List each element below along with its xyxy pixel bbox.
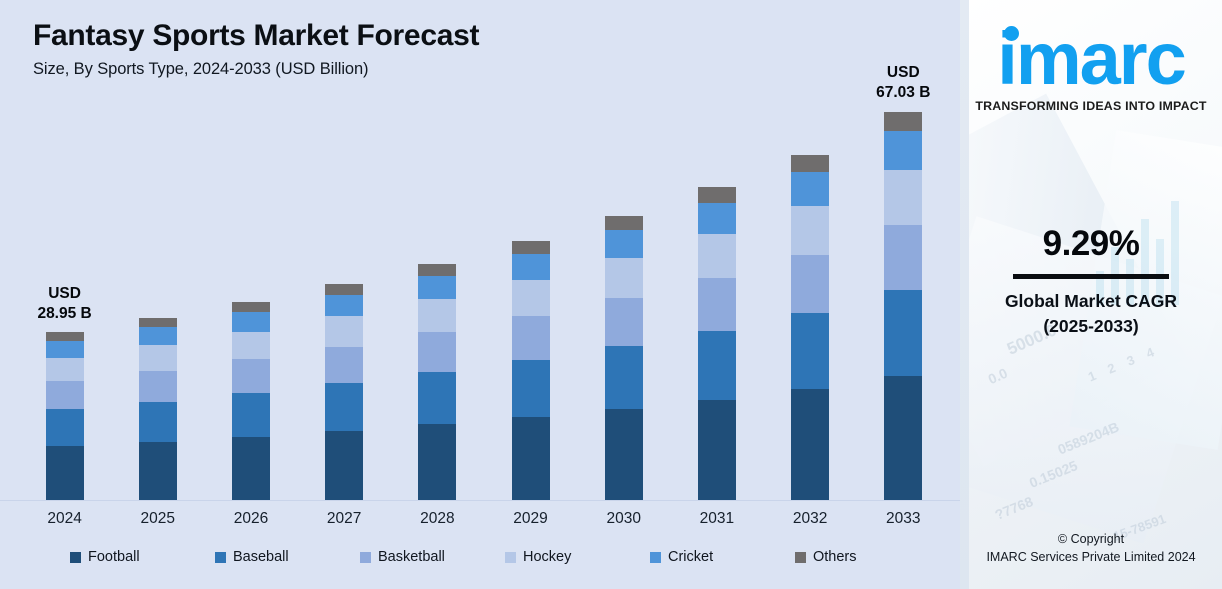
chart-subtitle: Size, By Sports Type, 2024-2033 (USD Bil… [33, 60, 479, 79]
bar-column-2029[interactable] [484, 100, 577, 500]
bar-segment-football[interactable] [418, 424, 456, 500]
stacked-bar[interactable] [232, 302, 270, 500]
legend-swatch-icon [360, 552, 371, 563]
bar-segment-football[interactable] [232, 437, 270, 500]
brand-panel: 5000.0 0.0 1 2 3 4 0589204B 0.15025 ?776… [960, 0, 1222, 589]
bar-column-2030[interactable] [577, 100, 670, 500]
stacked-bar[interactable] [139, 318, 177, 500]
cagr-block: 9.29% Global Market CAGR (2025-2033) [960, 226, 1222, 338]
page-title: Fantasy Sports Market Forecast [33, 19, 479, 53]
bar-segment-baseball[interactable] [418, 372, 456, 424]
x-axis-tick-2030: 2030 [577, 510, 670, 528]
bar-segment-hockey[interactable] [605, 258, 643, 298]
logo-mark: imarc [997, 20, 1184, 98]
bar-segment-football[interactable] [325, 431, 363, 500]
copyright-line2: IMARC Services Private Limited 2024 [960, 548, 1222, 566]
bar-column-2033[interactable]: USD67.03 B [857, 100, 950, 500]
bar-segment-hockey[interactable] [791, 206, 829, 254]
bar-segment-others[interactable] [325, 284, 363, 295]
bar-segment-hockey[interactable] [512, 280, 550, 316]
stacked-bar[interactable] [512, 241, 550, 500]
stacked-bar[interactable] [791, 155, 829, 500]
legend-item-others[interactable]: Others [795, 549, 940, 565]
x-axis-tick-2024: 2024 [18, 510, 111, 528]
chart-header: Fantasy Sports Market Forecast Size, By … [33, 19, 479, 79]
bar-segment-basketball[interactable] [418, 332, 456, 372]
cagr-caption-line1: Global Market CAGR [960, 289, 1222, 314]
bar-segment-hockey[interactable] [698, 234, 736, 278]
bar-segment-basketball[interactable] [605, 298, 643, 346]
bar-segment-football[interactable] [46, 446, 84, 500]
legend-label: Hockey [523, 549, 571, 565]
logo-tagline: TRANSFORMING IDEAS INTO IMPACT [960, 99, 1222, 113]
bar-segment-hockey[interactable] [884, 170, 922, 224]
value-annotation-2024: USD28.95 B [37, 284, 91, 324]
bar-segment-basketball[interactable] [791, 255, 829, 314]
bar-segment-basketball[interactable] [46, 381, 84, 409]
legend-swatch-icon [215, 552, 226, 563]
bar-group: USD28.95 BUSD67.03 B [18, 100, 950, 500]
stacked-bar[interactable] [698, 187, 736, 500]
bar-segment-others[interactable] [512, 241, 550, 254]
bar-segment-hockey[interactable] [232, 332, 270, 360]
bar-segment-football[interactable] [139, 442, 177, 500]
bar-segment-baseball[interactable] [325, 383, 363, 431]
bar-segment-basketball[interactable] [884, 225, 922, 291]
bar-column-2027[interactable] [298, 100, 391, 500]
bar-segment-cricket[interactable] [46, 341, 84, 358]
bar-segment-others[interactable] [791, 155, 829, 172]
legend-item-baseball[interactable]: Baseball [215, 549, 360, 565]
bar-column-2025[interactable] [111, 100, 204, 500]
legend-swatch-icon [650, 552, 661, 563]
x-axis-tick-2026: 2026 [204, 510, 297, 528]
bar-segment-others[interactable] [232, 302, 270, 312]
x-axis-tick-2031: 2031 [670, 510, 763, 528]
bar-segment-cricket[interactable] [605, 230, 643, 258]
cagr-rule [1013, 274, 1169, 279]
x-axis-tick-2029: 2029 [484, 510, 577, 528]
bar-segment-cricket[interactable] [884, 131, 922, 170]
stacked-bar[interactable] [884, 112, 922, 500]
bar-segment-hockey[interactable] [46, 358, 84, 381]
bar-segment-hockey[interactable] [139, 345, 177, 370]
bar-segment-baseball[interactable] [884, 290, 922, 375]
x-axis: 2024202520262027202820292030203120322033 [18, 505, 950, 533]
bar-segment-cricket[interactable] [325, 295, 363, 317]
stacked-bar[interactable] [418, 264, 456, 500]
plot-area: USD28.95 BUSD67.03 B [0, 100, 960, 500]
bar-segment-cricket[interactable] [139, 327, 177, 345]
bar-segment-football[interactable] [512, 417, 550, 500]
bar-column-2032[interactable] [764, 100, 857, 500]
bar-segment-hockey[interactable] [418, 299, 456, 332]
x-axis-tick-2027: 2027 [298, 510, 391, 528]
legend-swatch-icon [70, 552, 81, 563]
annotation-currency: USD [876, 63, 930, 83]
bar-segment-cricket[interactable] [512, 254, 550, 280]
bar-segment-others[interactable] [418, 264, 456, 276]
bar-column-2024[interactable]: USD28.95 B [18, 100, 111, 500]
bar-segment-baseball[interactable] [139, 402, 177, 442]
stacked-bar[interactable] [325, 284, 363, 500]
bar-segment-football[interactable] [698, 400, 736, 500]
infographic-root: Fantasy Sports Market Forecast Size, By … [0, 0, 1222, 589]
bar-segment-others[interactable] [139, 318, 177, 327]
bar-segment-cricket[interactable] [232, 312, 270, 332]
bar-segment-basketball[interactable] [512, 316, 550, 360]
copyright: © Copyright IMARC Services Private Limit… [960, 530, 1222, 566]
bar-segment-basketball[interactable] [325, 347, 363, 384]
copyright-line1: © Copyright [960, 530, 1222, 548]
cagr-caption-line2: (2025-2033) [960, 314, 1222, 339]
bar-segment-cricket[interactable] [698, 203, 736, 234]
x-axis-tick-2033: 2033 [857, 510, 950, 528]
bar-segment-baseball[interactable] [791, 313, 829, 389]
bar-column-2031[interactable] [670, 100, 763, 500]
legend-item-basketball[interactable]: Basketball [360, 549, 505, 565]
legend-item-cricket[interactable]: Cricket [650, 549, 795, 565]
legend-swatch-icon [795, 552, 806, 563]
legend-label: Football [88, 549, 140, 565]
bar-column-2026[interactable] [204, 100, 297, 500]
bar-segment-baseball[interactable] [232, 393, 270, 437]
brand-content: imarc TRANSFORMING IDEAS INTO IMPACT 9.2… [960, 0, 1222, 589]
bar-segment-football[interactable] [605, 409, 643, 500]
bar-segment-football[interactable] [884, 376, 922, 500]
bar-segment-hockey[interactable] [325, 316, 363, 346]
x-axis-tick-2032: 2032 [764, 510, 857, 528]
bar-segment-basketball[interactable] [232, 359, 270, 393]
annotation-amount: 28.95 B [37, 304, 91, 324]
bar-segment-others[interactable] [605, 216, 643, 230]
value-annotation-2033: USD67.03 B [876, 63, 930, 103]
bar-segment-basketball[interactable] [698, 278, 736, 331]
axis-baseline [0, 500, 960, 501]
logo-wordmark: imarc [997, 17, 1184, 100]
bar-segment-basketball[interactable] [139, 371, 177, 402]
bar-segment-football[interactable] [791, 389, 829, 500]
chart-legend: FootballBaseballBasketballHockeyCricketO… [70, 544, 940, 570]
bar-column-2028[interactable] [391, 100, 484, 500]
stacked-bar[interactable] [46, 332, 84, 500]
legend-label: Baseball [233, 549, 289, 565]
bar-segment-baseball[interactable] [698, 331, 736, 400]
legend-item-football[interactable]: Football [70, 549, 215, 565]
bar-segment-baseball[interactable] [46, 409, 84, 446]
legend-swatch-icon [505, 552, 516, 563]
chart-panel: Fantasy Sports Market Forecast Size, By … [0, 0, 960, 589]
x-axis-tick-2028: 2028 [391, 510, 484, 528]
legend-label: Basketball [378, 549, 445, 565]
annotation-amount: 67.03 B [876, 83, 930, 103]
annotation-currency: USD [37, 284, 91, 304]
bar-segment-cricket[interactable] [418, 276, 456, 300]
legend-item-hockey[interactable]: Hockey [505, 549, 650, 565]
bar-segment-others[interactable] [698, 187, 736, 203]
legend-label: Others [813, 549, 857, 565]
bar-segment-others[interactable] [46, 332, 84, 340]
imarc-logo: imarc TRANSFORMING IDEAS INTO IMPACT [960, 20, 1222, 113]
bar-segment-others[interactable] [884, 112, 922, 131]
legend-label: Cricket [668, 549, 713, 565]
bar-segment-baseball[interactable] [512, 360, 550, 417]
stacked-bar[interactable] [605, 216, 643, 501]
bar-segment-cricket[interactable] [791, 172, 829, 207]
x-axis-tick-2025: 2025 [111, 510, 204, 528]
cagr-value: 9.29% [960, 226, 1222, 263]
bar-segment-baseball[interactable] [605, 346, 643, 409]
